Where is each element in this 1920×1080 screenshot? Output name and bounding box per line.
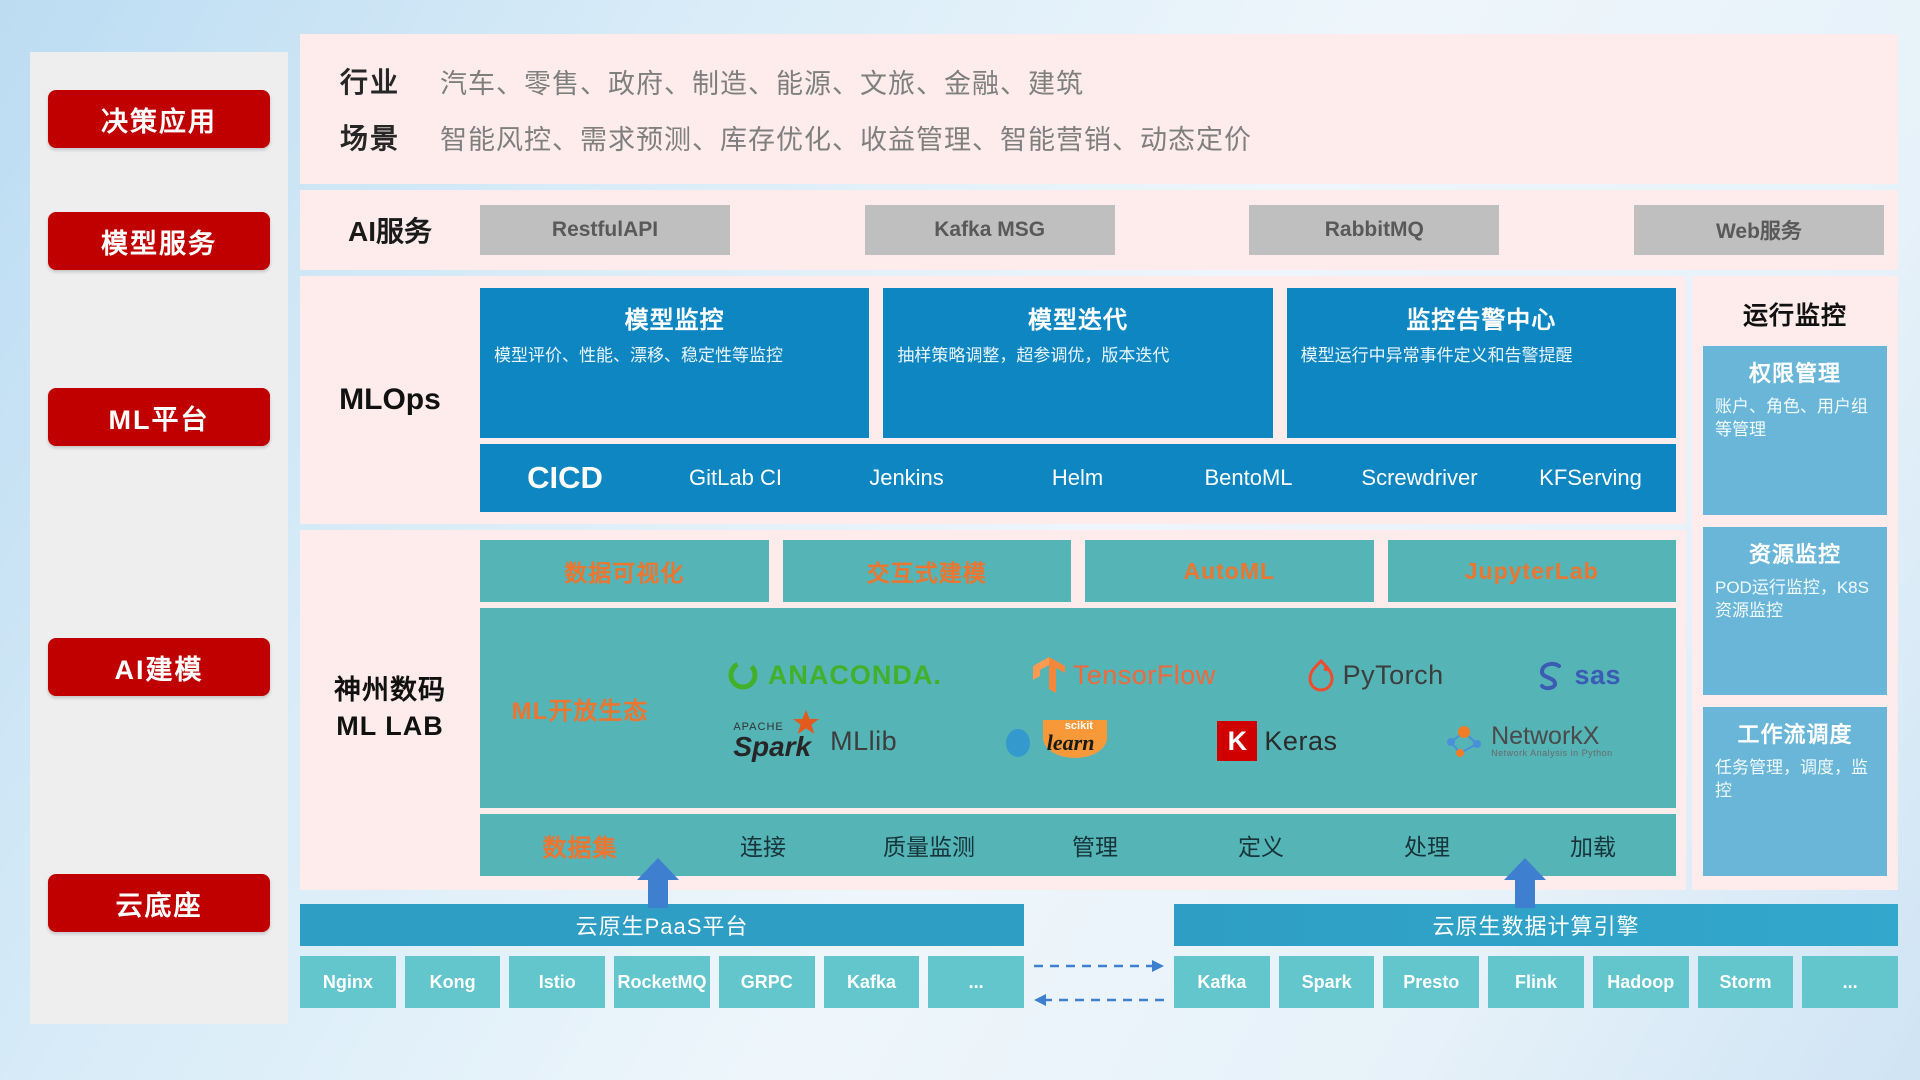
networkx-label: NetworkX — [1491, 723, 1613, 749]
keras-mark-icon: K — [1217, 721, 1257, 761]
mlops-label: MLOps — [300, 288, 480, 512]
anaconda-logo: ANACONDA. — [725, 657, 942, 693]
card-desc: 账户、角色、用户组等管理 — [1715, 396, 1875, 442]
card-desc: 模型运行中异常事件定义和告警提醒 — [1301, 345, 1662, 368]
cloud-paas-bar[interactable]: 云原生PaaS平台 — [300, 904, 1024, 946]
anaconda-label: ANACONDA. — [768, 660, 942, 691]
dataset-item-manage[interactable]: 管理 — [1012, 828, 1178, 862]
anaconda-ring-icon — [725, 657, 761, 693]
ml-lab-label-line1: 神州数码 — [334, 672, 446, 708]
card-desc: 抽样策略调整，超参调优，版本迭代 — [897, 345, 1258, 368]
industry-scenario-band: 行业 汽车、零售、政府、制造、能源、文旅、金融、建筑 场景 智能风控、需求预测、… — [300, 34, 1898, 184]
scikit-learn-label: learn — [1047, 730, 1095, 756]
chip-istio[interactable]: Istio — [509, 956, 605, 1008]
runtime-monitor-title: 运行监控 — [1743, 296, 1847, 332]
rail-badge-ml-platform[interactable]: ML平台 — [48, 388, 270, 446]
card-title: 监控告警中心 — [1301, 300, 1662, 335]
card-desc: POD运行监控，K8S资源监控 — [1715, 577, 1875, 623]
monitor-card-resource[interactable]: 资源监控 POD运行监控，K8S资源监控 — [1703, 527, 1887, 696]
chip-kafka-paas[interactable]: Kafka — [824, 956, 920, 1008]
chip-kong[interactable]: Kong — [405, 956, 501, 1008]
card-title: 资源监控 — [1715, 537, 1875, 569]
chip-grpc[interactable]: GRPC — [719, 956, 815, 1008]
scenario-row: 场景 智能风控、需求预测、库存优化、收益管理、智能营销、动态定价 — [300, 109, 1898, 165]
platform-modeling-column: MLOps 模型监控 模型评价、性能、漂移、稳定性等监控 模型迭代 抽样策略调整… — [300, 276, 1686, 890]
cicd-row: CICD GitLab CI Jenkins Helm BentoML Scre… — [480, 444, 1676, 512]
industry-label: 行业 — [300, 61, 440, 101]
cicd-item-helm[interactable]: Helm — [992, 467, 1163, 489]
chip-hadoop[interactable]: Hadoop — [1593, 956, 1689, 1008]
rail-badge-cloud-base[interactable]: 云底座 — [48, 874, 270, 932]
cloud-data-engine-chips: Kafka Spark Presto Flink Hadoop Storm ..… — [1174, 956, 1898, 1008]
pytorch-logo: PyTorch — [1306, 657, 1444, 693]
cicd-items: GitLab CI Jenkins Helm BentoML Screwdriv… — [650, 467, 1676, 489]
ml-ecosystem-title: ML开放生态 — [480, 608, 680, 808]
mlops-body: 模型监控 模型评价、性能、漂移、稳定性等监控 模型迭代 抽样策略调整，超参调优，… — [480, 288, 1686, 512]
cicd-item-screwdriver[interactable]: Screwdriver — [1334, 467, 1505, 489]
pytorch-flame-icon — [1306, 657, 1336, 693]
chip-flink[interactable]: Flink — [1488, 956, 1584, 1008]
dataset-item-connect[interactable]: 连接 — [680, 828, 846, 862]
pytorch-label: PyTorch — [1343, 660, 1444, 691]
tensorflow-mark-icon — [1032, 655, 1066, 695]
card-desc: 任务管理，调度，监控 — [1715, 757, 1875, 803]
ai-service-chip-restfulapi[interactable]: RestfulAPI — [480, 205, 730, 255]
layer-rail: 决策应用 模型服务 ML平台 AI建模 云底座 — [30, 52, 288, 1024]
dataset-item-quality-monitor[interactable]: 质量监测 — [846, 828, 1012, 862]
ai-service-items: RestfulAPI Kafka MSG RabbitMQ Web服务 — [480, 205, 1898, 255]
ai-service-band: AI服务 RestfulAPI Kafka MSG RabbitMQ Web服务 — [300, 190, 1898, 270]
cloud-data-engine-column: 云原生数据计算引擎 Kafka Spark Presto Flink Hadoo… — [1174, 904, 1898, 1054]
architecture-diagram: 决策应用 模型服务 ML平台 AI建模 云底座 行业 汽车、零售、政府、制造、能… — [0, 0, 1920, 1080]
mlops-card-model-monitoring[interactable]: 模型监控 模型评价、性能、漂移、稳定性等监控 — [480, 288, 869, 438]
sas-swirl-icon — [1533, 658, 1567, 692]
scikit-learn-logo: scikit learn — [1004, 718, 1111, 765]
mlops-cards: 模型监控 模型评价、性能、漂移、稳定性等监控 模型迭代 抽样策略调整，超参调优，… — [480, 288, 1676, 438]
cicd-item-gitlab-ci[interactable]: GitLab CI — [650, 467, 821, 489]
cicd-item-kfserving[interactable]: KFServing — [1505, 467, 1676, 489]
cloud-base-section: 云原生PaaS平台 Nginx Kong Istio RocketMQ GRPC… — [300, 904, 1898, 1054]
cicd-item-bentoml[interactable]: BentoML — [1163, 467, 1334, 489]
rail-badge-decision-app[interactable]: 决策应用 — [48, 90, 270, 148]
tool-jupyterlab[interactable]: JupyterLab — [1388, 540, 1677, 602]
networkx-graph-icon — [1444, 722, 1484, 760]
card-title: 模型监控 — [494, 300, 855, 335]
chip-spark[interactable]: Spark — [1279, 956, 1375, 1008]
rail-badge-model-service[interactable]: 模型服务 — [48, 212, 270, 270]
ml-lab-label-line2: ML LAB — [336, 708, 444, 744]
spark-mllib-logo: APACHE Spark MLlib — [733, 722, 897, 761]
ml-lab-tools: 数据可视化 交互式建模 AutoML JupyterLab — [480, 540, 1676, 602]
chip-more-engine[interactable]: ... — [1802, 956, 1898, 1008]
runtime-monitor-rail: 运行监控 权限管理 账户、角色、用户组等管理 资源监控 POD运行监控，K8S资… — [1692, 276, 1898, 890]
ml-lab-label: 神州数码 ML LAB — [300, 540, 480, 876]
chip-rocketmq[interactable]: RocketMQ — [614, 956, 710, 1008]
ai-service-chip-rabbitmq[interactable]: RabbitMQ — [1249, 205, 1499, 255]
industry-row: 行业 汽车、零售、政府、制造、能源、文旅、金融、建筑 — [300, 53, 1898, 109]
tool-interactive-modeling[interactable]: 交互式建模 — [783, 540, 1072, 602]
card-title: 工作流调度 — [1715, 717, 1875, 749]
ai-service-chip-web-service[interactable]: Web服务 — [1634, 205, 1884, 255]
dataset-items: 连接 质量监测 管理 定义 处理 加载 — [680, 828, 1676, 862]
mllib-label: MLlib — [830, 726, 897, 757]
monitor-card-permission[interactable]: 权限管理 账户、角色、用户组等管理 — [1703, 346, 1887, 515]
cloud-paas-column: 云原生PaaS平台 Nginx Kong Istio RocketMQ GRPC… — [300, 904, 1024, 1054]
ai-service-label: AI服务 — [300, 210, 480, 250]
ai-service-chip-kafka-msg[interactable]: Kafka MSG — [865, 205, 1115, 255]
tool-automl[interactable]: AutoML — [1085, 540, 1374, 602]
dataset-item-process[interactable]: 处理 — [1344, 828, 1510, 862]
rail-badge-ai-modeling[interactable]: AI建模 — [48, 638, 270, 696]
keras-label: Keras — [1264, 726, 1337, 757]
tensorflow-logo: TensorFlow — [1032, 655, 1216, 695]
cloud-paas-chips: Nginx Kong Istio RocketMQ GRPC Kafka ... — [300, 956, 1024, 1008]
chip-kafka-engine[interactable]: Kafka — [1174, 956, 1270, 1008]
chip-presto[interactable]: Presto — [1383, 956, 1479, 1008]
networkx-subtitle: Network Analysis in Python — [1491, 749, 1613, 758]
mlops-card-alert-center[interactable]: 监控告警中心 模型运行中异常事件定义和告警提醒 — [1287, 288, 1676, 438]
ml-lab-body: 数据可视化 交互式建模 AutoML JupyterLab ML开放生态 — [480, 540, 1686, 876]
platform-and-modeling-area: MLOps 模型监控 模型评价、性能、漂移、稳定性等监控 模型迭代 抽样策略调整… — [300, 276, 1898, 890]
scenario-label: 场景 — [300, 117, 440, 157]
sas-label: sas — [1574, 660, 1621, 691]
cloud-link-arrows — [1024, 904, 1174, 1054]
ecosystem-logo-row-2: APACHE Spark MLlib — [680, 710, 1666, 772]
tool-data-visualization[interactable]: 数据可视化 — [480, 540, 769, 602]
networkx-logo: NetworkX Network Analysis in Python — [1444, 722, 1613, 760]
scenario-list: 智能风控、需求预测、库存优化、收益管理、智能营销、动态定价 — [440, 118, 1252, 157]
card-desc: 模型评价、性能、漂移、稳定性等监控 — [494, 345, 855, 368]
dataset-item-load[interactable]: 加载 — [1510, 828, 1676, 862]
mlops-band: MLOps 模型监控 模型评价、性能、漂移、稳定性等监控 模型迭代 抽样策略调整… — [300, 276, 1686, 524]
dataset-item-define[interactable]: 定义 — [1178, 828, 1344, 862]
keras-logo: K Keras — [1217, 721, 1337, 761]
ecosystem-logo-row-1: ANACONDA. TensorFlow — [680, 644, 1666, 706]
mlops-card-model-iteration[interactable]: 模型迭代 抽样策略调整，超参调优，版本迭代 — [883, 288, 1272, 438]
cicd-item-jenkins[interactable]: Jenkins — [821, 467, 992, 489]
card-title: 模型迭代 — [897, 300, 1258, 335]
tensorflow-label: TensorFlow — [1073, 660, 1216, 691]
cicd-title: CICD — [480, 460, 650, 496]
cloud-data-engine-bar[interactable]: 云原生数据计算引擎 — [1174, 904, 1898, 946]
bidirectional-dashed-arrow-icon — [1024, 950, 1174, 1020]
industry-list: 汽车、零售、政府、制造、能源、文旅、金融、建筑 — [440, 62, 1084, 101]
main-column: 行业 汽车、零售、政府、制造、能源、文旅、金融、建筑 场景 智能风控、需求预测、… — [300, 34, 1898, 1054]
data-engine-up-arrow-icon — [1502, 858, 1548, 908]
chip-more-paas[interactable]: ... — [928, 956, 1024, 1008]
sas-logo: sas — [1533, 658, 1621, 692]
chip-storm[interactable]: Storm — [1698, 956, 1794, 1008]
ml-ecosystem-row: ML开放生态 ANACONDA. — [480, 608, 1676, 808]
monitor-card-workflow[interactable]: 工作流调度 任务管理，调度，监控 — [1703, 707, 1887, 876]
chip-nginx[interactable]: Nginx — [300, 956, 396, 1008]
ml-ecosystem-logos: ANACONDA. TensorFlow — [680, 608, 1676, 808]
ml-lab-band: 神州数码 ML LAB 数据可视化 交互式建模 AutoML JupyterLa… — [300, 530, 1686, 890]
paas-up-arrow-icon — [635, 858, 681, 908]
spark-star-icon — [791, 708, 821, 738]
card-title: 权限管理 — [1715, 356, 1875, 388]
